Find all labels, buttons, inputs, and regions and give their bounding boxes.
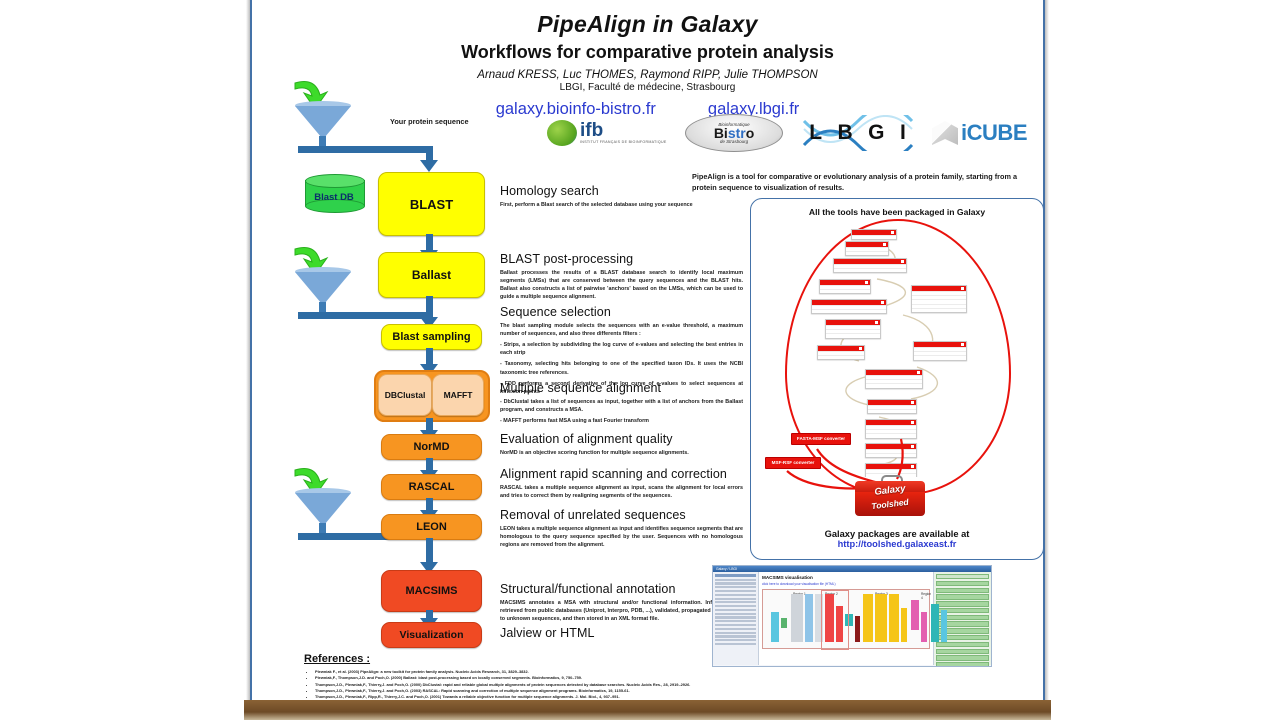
section-alignment-rapid-scanning: Alignment rapid scanning and correction …	[500, 467, 743, 500]
node-row	[866, 433, 916, 437]
flow-node-visualization-label: Visualization	[400, 629, 464, 641]
flow-node-mafft[interactable]: MAFFT	[432, 374, 484, 416]
section-heading: Sequence selection	[500, 305, 743, 319]
bistro-main-text: Bistro	[714, 126, 754, 140]
converter-msf-rsf[interactable]: MSF-RSF converter	[765, 457, 821, 469]
page-title: PipeAlign in Galaxy	[252, 11, 1043, 38]
flow-node-blast-label: BLAST	[410, 197, 453, 212]
galaxy-panel-heading: All the tools have been packaged in Gala…	[751, 207, 1043, 217]
cube-icon	[932, 121, 958, 145]
node-close-icon[interactable]	[891, 231, 894, 234]
node-row	[820, 289, 870, 293]
galaxy-toolshed-icon[interactable]: Galaxy Toolshed	[855, 475, 925, 517]
funnel-cone	[295, 272, 351, 302]
panel-line	[715, 586, 756, 588]
alignment-viewer: Region 1 Region 2 Region 3 Region 4	[762, 589, 930, 649]
section-heading: BLAST post-processing	[500, 252, 743, 266]
screenshot-window-title: Galaxy / LBGI	[713, 567, 737, 571]
workflow-node[interactable]	[825, 319, 881, 339]
galaxy-panel-footer: Galaxy packages are available at http://…	[751, 529, 1043, 549]
galaxy-packaging-panel: All the tools have been packaged in Gala…	[750, 198, 1044, 560]
flow-node-rascal-label: RASCAL	[409, 481, 455, 493]
node-close-icon[interactable]	[961, 287, 964, 290]
icube-logo: iCUBE	[932, 114, 1027, 152]
panel-line	[715, 605, 756, 607]
flow-node-macsims[interactable]: MACSIMS	[381, 570, 482, 612]
workflow-node[interactable]	[865, 443, 917, 458]
node-row	[866, 383, 922, 387]
workflow-node[interactable]	[833, 258, 907, 273]
screenshot-left-panel[interactable]	[713, 572, 759, 665]
history-item	[936, 601, 989, 606]
db-top	[305, 174, 365, 188]
panel-line	[715, 628, 756, 630]
node-row	[834, 268, 906, 272]
references-heading: References :	[304, 653, 1004, 665]
lbgi-letter-b: B	[838, 121, 853, 145]
workflow-node[interactable]	[865, 369, 923, 389]
node-close-icon[interactable]	[859, 347, 862, 350]
page-subtitle: Workflows for comparative protein analys…	[252, 42, 1043, 63]
screenshot-center-panel: MACSIMS visualisation click here to down…	[759, 572, 933, 665]
flow-node-blast[interactable]: BLAST	[378, 172, 485, 236]
poster-sheet: PipeAlign in Galaxy Workflows for compar…	[250, 0, 1045, 714]
alignment-column	[791, 594, 803, 642]
section-heading: Jalview or HTML	[500, 626, 743, 640]
section-bullet-2: - Taxonomy, selecting hits belonging to …	[500, 360, 743, 376]
panel-line	[715, 613, 756, 615]
node-close-icon[interactable]	[875, 321, 878, 324]
section-visualization: Jalview or HTML	[500, 626, 743, 640]
node-close-icon[interactable]	[911, 465, 914, 468]
flow-node-macsims-label: MACSIMS	[406, 585, 458, 597]
node-row	[846, 251, 888, 255]
flow-node-blast-sampling-label: Blast sampling	[392, 331, 470, 343]
alignment-column	[863, 594, 873, 642]
workflow-node[interactable]	[845, 241, 889, 256]
section-body: First, perform a Blast search of the sel…	[500, 201, 743, 209]
panel-line	[715, 616, 756, 618]
node-close-icon[interactable]	[961, 343, 964, 346]
alignment-column	[921, 612, 927, 642]
section-structural-functional-annotation: Structural/functional annotation MACSIMS…	[500, 582, 743, 623]
input-caption: Your protein sequence	[390, 117, 469, 126]
flow-node-visualization[interactable]: Visualization	[381, 622, 482, 648]
converter-fasta-msf[interactable]: FASTA-MSF converter	[791, 433, 851, 445]
workflow-node[interactable]	[811, 299, 887, 314]
input-funnel-icon-3	[295, 488, 351, 539]
toolshed-availability-text: Galaxy packages are available at	[751, 529, 1043, 539]
converter-fasta-msf-label: FASTA-MSF converter	[797, 436, 845, 441]
alignment-column	[855, 616, 860, 642]
macsims-screenshot[interactable]: Galaxy / LBGI MACSIMS visualisation	[712, 565, 992, 667]
toolshed-url-link[interactable]: http://toolshed.galaxeast.fr	[751, 539, 1043, 549]
workflow-node[interactable]	[911, 285, 967, 313]
panel-line	[715, 635, 756, 637]
flow-node-blast-sampling[interactable]: Blast sampling	[381, 324, 482, 350]
flow-node-mafft-label: MAFFT	[444, 390, 473, 400]
node-close-icon[interactable]	[901, 260, 904, 263]
flow-node-dbclustal[interactable]: DBClustal	[378, 374, 432, 416]
lbgi-letter-l: L	[809, 121, 822, 145]
panel-line	[715, 639, 756, 641]
flow-node-dbclustal-label: DBClustal	[385, 390, 426, 400]
panel-line	[715, 643, 756, 645]
flow-node-rascal[interactable]: RASCAL	[381, 474, 482, 500]
section-multiple-sequence-alignment: Multiple sequence alignment - DbClustal …	[500, 381, 743, 425]
region-label-4: Region 4	[921, 592, 931, 600]
node-row	[826, 333, 880, 337]
bistro-logo: Bioinformatique Bistro de Strasbourg	[685, 114, 783, 152]
alignment-column	[875, 594, 887, 642]
input-funnel-icon-1	[295, 101, 351, 152]
workflow-node[interactable]	[867, 399, 917, 414]
panel-line	[715, 594, 756, 596]
node-close-icon[interactable]	[911, 421, 914, 424]
section-body: MACSIMS annotates a MSA with structural …	[500, 599, 743, 623]
section-bullet-2: - MAFFT performs fast MSA using a fast F…	[500, 417, 743, 425]
node-close-icon[interactable]	[865, 281, 868, 284]
panel-line	[715, 609, 756, 611]
workflow-node[interactable]	[865, 419, 917, 439]
alignment-column	[781, 618, 787, 628]
flow-node-leon-label: LEON	[416, 521, 447, 533]
history-item	[936, 574, 989, 579]
node-row	[866, 453, 916, 457]
section-bullet-1: - Strips, a selection by subdividing the…	[500, 341, 743, 357]
workflow-node[interactable]	[817, 345, 865, 360]
alignment-column	[889, 594, 899, 642]
lbgi-letter-i: I	[900, 121, 906, 145]
ifb-logo: ifb INSTITUT FRANÇAIS DE BIOINFORMATIQUE	[547, 114, 667, 152]
flow-node-ballast[interactable]: Ballast	[378, 252, 485, 298]
flow-node-normd[interactable]: NorMD	[381, 434, 482, 460]
section-body: Ballast processes the results of a BLAST…	[500, 269, 743, 301]
icube-logo-text: iCUBE	[961, 120, 1027, 146]
section-body: NorMD is an objective scoring function f…	[500, 449, 743, 457]
section-heading: Multiple sequence alignment	[500, 381, 743, 395]
section-body: LEON takes a multiple sequence alignment…	[500, 525, 743, 549]
alignment-column	[941, 610, 947, 642]
section-body: RASCAL takes a multiple sequence alignme…	[500, 484, 743, 500]
lbgi-logo: L B G I	[802, 115, 914, 151]
ifb-logo-subtext: INSTITUT FRANÇAIS DE BIOINFORMATIQUE	[580, 140, 667, 144]
flow-node-ballast-label: Ballast	[412, 268, 451, 282]
section-body: The blast sampling module selects the se…	[500, 322, 743, 338]
flow-line-funnel2-h	[298, 312, 432, 319]
screenshot-page-heading: MACSIMS visualisation	[762, 575, 930, 580]
section-heading: Removal of unrelated sequences	[500, 508, 743, 522]
section-heading: Structural/functional annotation	[500, 582, 743, 596]
node-close-icon[interactable]	[911, 401, 914, 404]
history-item	[936, 588, 989, 593]
funnel-cone	[295, 106, 351, 136]
panel-line	[715, 590, 756, 592]
node-row	[912, 308, 966, 312]
screenshot-body: MACSIMS visualisation click here to down…	[713, 572, 991, 665]
panel-line	[715, 624, 756, 626]
node-row	[868, 409, 916, 413]
input-funnel-icon-2	[295, 267, 351, 318]
ifb-logo-text: ifb	[580, 122, 667, 140]
alignment-column	[805, 594, 813, 642]
ifb-mark-icon	[547, 120, 577, 146]
flow-arrowhead-input	[420, 160, 438, 172]
panel-line	[715, 598, 756, 600]
section-blast-post-processing: BLAST post-processing Ballast processes …	[500, 252, 743, 301]
alignment-column	[931, 604, 939, 642]
flow-node-normd-label: NorMD	[413, 441, 449, 453]
section-heading: Evaluation of alignment quality	[500, 432, 743, 446]
panel-line	[715, 620, 756, 622]
section-removal-of-unrelated-sequences: Removal of unrelated sequences LEON take…	[500, 508, 743, 549]
author-list: Arnaud KRESS, Luc THOMES, Raymond RIPP, …	[252, 69, 1043, 81]
panel-line	[715, 574, 756, 577]
node-close-icon[interactable]	[883, 243, 886, 246]
blast-db-icon: Blast DB	[305, 180, 365, 213]
node-row	[852, 235, 896, 239]
lbgi-letter-g: G	[868, 121, 884, 145]
node-row	[812, 309, 886, 313]
node-row	[818, 355, 864, 359]
screenshot-canvas: PipeAlign in Galaxy Workflows for compar…	[0, 0, 1280, 720]
history-item	[936, 594, 989, 599]
screenshot-download-link[interactable]: click here to download your visualisatio…	[762, 582, 930, 586]
selection-box[interactable]	[821, 590, 849, 650]
funnel-cone	[295, 493, 351, 523]
logo-strip: ifb INSTITUT FRANÇAIS DE BIOINFORMATIQUE…	[547, 112, 1027, 154]
alignment-column	[901, 608, 907, 642]
node-close-icon[interactable]	[911, 445, 914, 448]
panel-line	[715, 632, 756, 634]
history-item	[936, 642, 989, 647]
lbgi-letters: L B G I	[802, 115, 914, 151]
bistro-bottom-text: de Strasbourg	[720, 139, 748, 144]
node-row	[914, 355, 966, 359]
workflow-node[interactable]	[851, 229, 897, 240]
flow-line-input-h	[298, 146, 432, 153]
bottom-desk-strip	[244, 700, 1051, 720]
section-heading: Alignment rapid scanning and correction	[500, 467, 743, 481]
panel-line	[715, 582, 756, 584]
workflow-node[interactable]	[819, 279, 871, 294]
panel-line	[715, 579, 756, 581]
section-evaluation-of-alignment-quality: Evaluation of alignment quality NorMD is…	[500, 432, 743, 457]
affiliation: LBGI, Faculté de médecine, Strasbourg	[252, 82, 1043, 93]
converter-msf-rsf-label: MSF-RSF converter	[772, 460, 815, 465]
section-bullet-1: - DbClustal takes a list of sequences as…	[500, 398, 743, 414]
flow-node-leon[interactable]: LEON	[381, 514, 482, 540]
alignment-column	[771, 612, 779, 642]
node-close-icon[interactable]	[917, 371, 920, 374]
workflow-node[interactable]	[913, 341, 967, 361]
history-item	[936, 581, 989, 586]
blast-db-label: Blast DB	[305, 192, 363, 203]
node-close-icon[interactable]	[881, 301, 884, 304]
alignment-column	[911, 600, 919, 630]
panel-line	[715, 601, 756, 603]
intro-paragraph: PipeAlign is a tool for comparative or e…	[692, 172, 1037, 193]
